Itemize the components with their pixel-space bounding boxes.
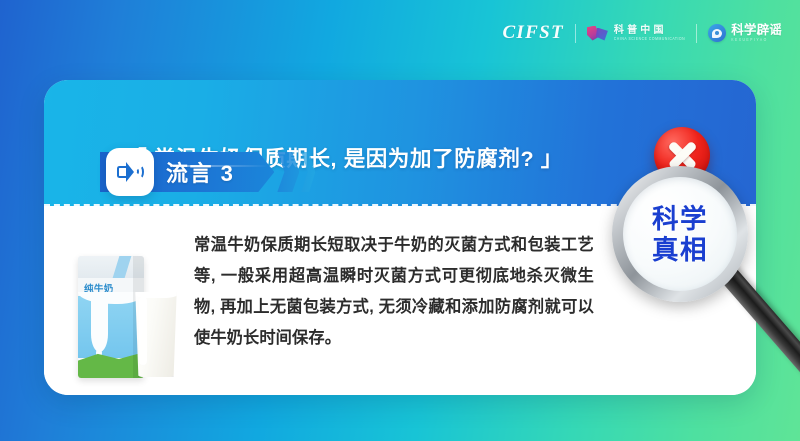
speaker-icon — [106, 148, 154, 196]
piyao-logo-cn: 科学辟谣 — [731, 24, 782, 37]
magnifier-lens: 科学 真相 — [623, 177, 737, 291]
logo-divider-2 — [696, 24, 697, 43]
piyao-circle-icon — [708, 24, 726, 42]
magnifier-ring-icon: 科学 真相 — [612, 166, 748, 302]
header-logo-bar: CIFST 科普中国 CHINA SCIENCE COMMUNICATION 科… — [502, 18, 782, 48]
kepu-logo-cn: 科普中国 — [614, 25, 685, 36]
rumor-explanation-text: 常温牛奶保质期长短取决于牛奶的灭菌方式和包装工艺等, 一般采用超高温瞬时灭菌方式… — [194, 230, 594, 354]
magnifier-text-line1: 科学 — [652, 204, 708, 234]
kepu-china-logo: 科普中国 CHINA SCIENCE COMMUNICATION — [587, 25, 685, 42]
rumor-banner-label: 流言 3 — [166, 156, 234, 188]
milk-illustration: 纯牛奶 — [72, 246, 190, 380]
cifst-logo: CIFST — [502, 22, 563, 44]
banner-chevron-2 — [301, 152, 315, 192]
magnifier-text-line2: 真相 — [652, 235, 708, 265]
kepu-wing-icon — [587, 25, 609, 42]
logo-divider-1 — [575, 24, 576, 43]
rumor-banner-tab: 流言 3 — [100, 152, 315, 192]
milk-carton-icon: 纯牛奶 — [78, 256, 144, 378]
kepu-logo-en: CHINA SCIENCE COMMUNICATION — [614, 36, 685, 42]
kexue-piyao-logo: 科学辟谣 KEXUEPIYAO — [708, 24, 782, 42]
banner-chevron-1 — [277, 152, 299, 192]
science-truth-magnifier: 科学 真相 — [612, 166, 800, 394]
piyao-logo-en: KEXUEPIYAO — [731, 37, 782, 43]
milk-glass-icon — [134, 292, 178, 377]
